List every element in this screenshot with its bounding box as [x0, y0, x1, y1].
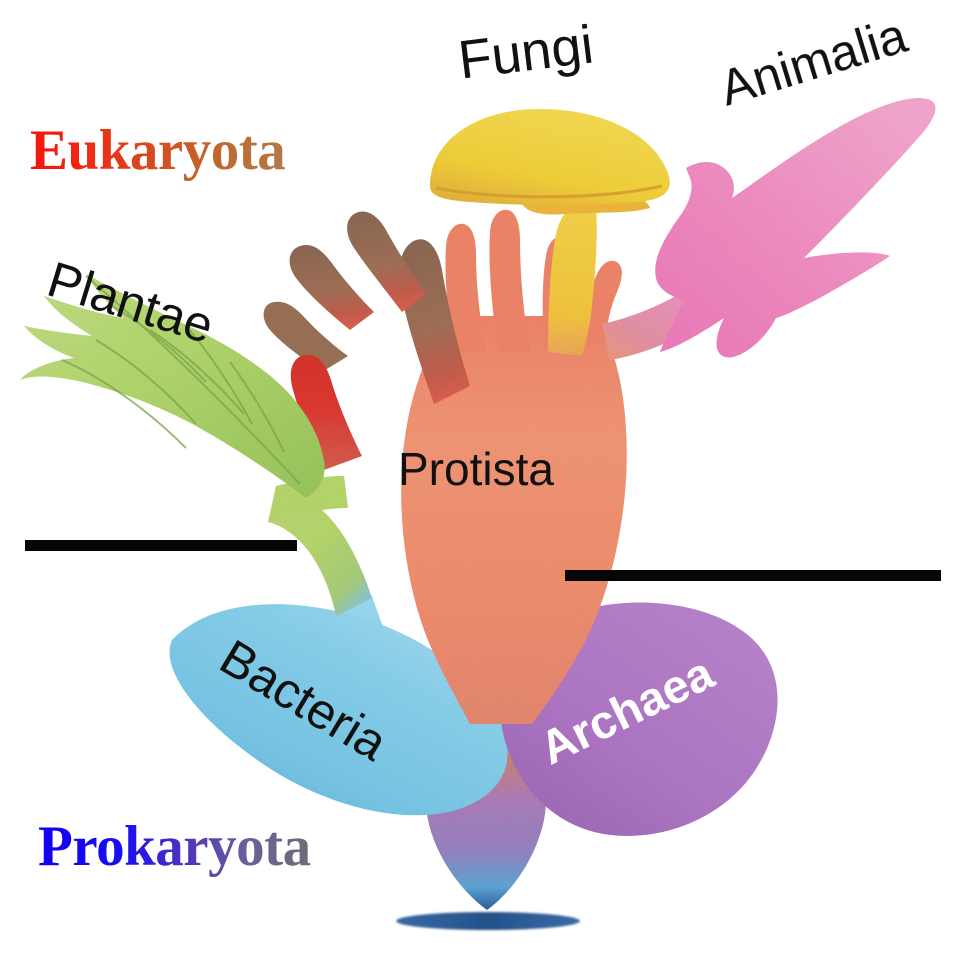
- protista-arm-coral-2: [489, 210, 530, 352]
- rank-label-eukaryota: Eukaryota: [30, 118, 285, 183]
- taxon-label-protista: Protista: [398, 442, 554, 496]
- separator-rule-left: [25, 540, 297, 551]
- soil-line-shape: [396, 912, 580, 930]
- separator-rule-right: [565, 570, 941, 581]
- rank-label-prokaryota: Prokaryota: [38, 814, 311, 879]
- animalia-dolphin-shape: [655, 98, 935, 357]
- tree-of-life-figure: Eukaryota Prokaryota Fungi Animalia Plan…: [0, 0, 958, 960]
